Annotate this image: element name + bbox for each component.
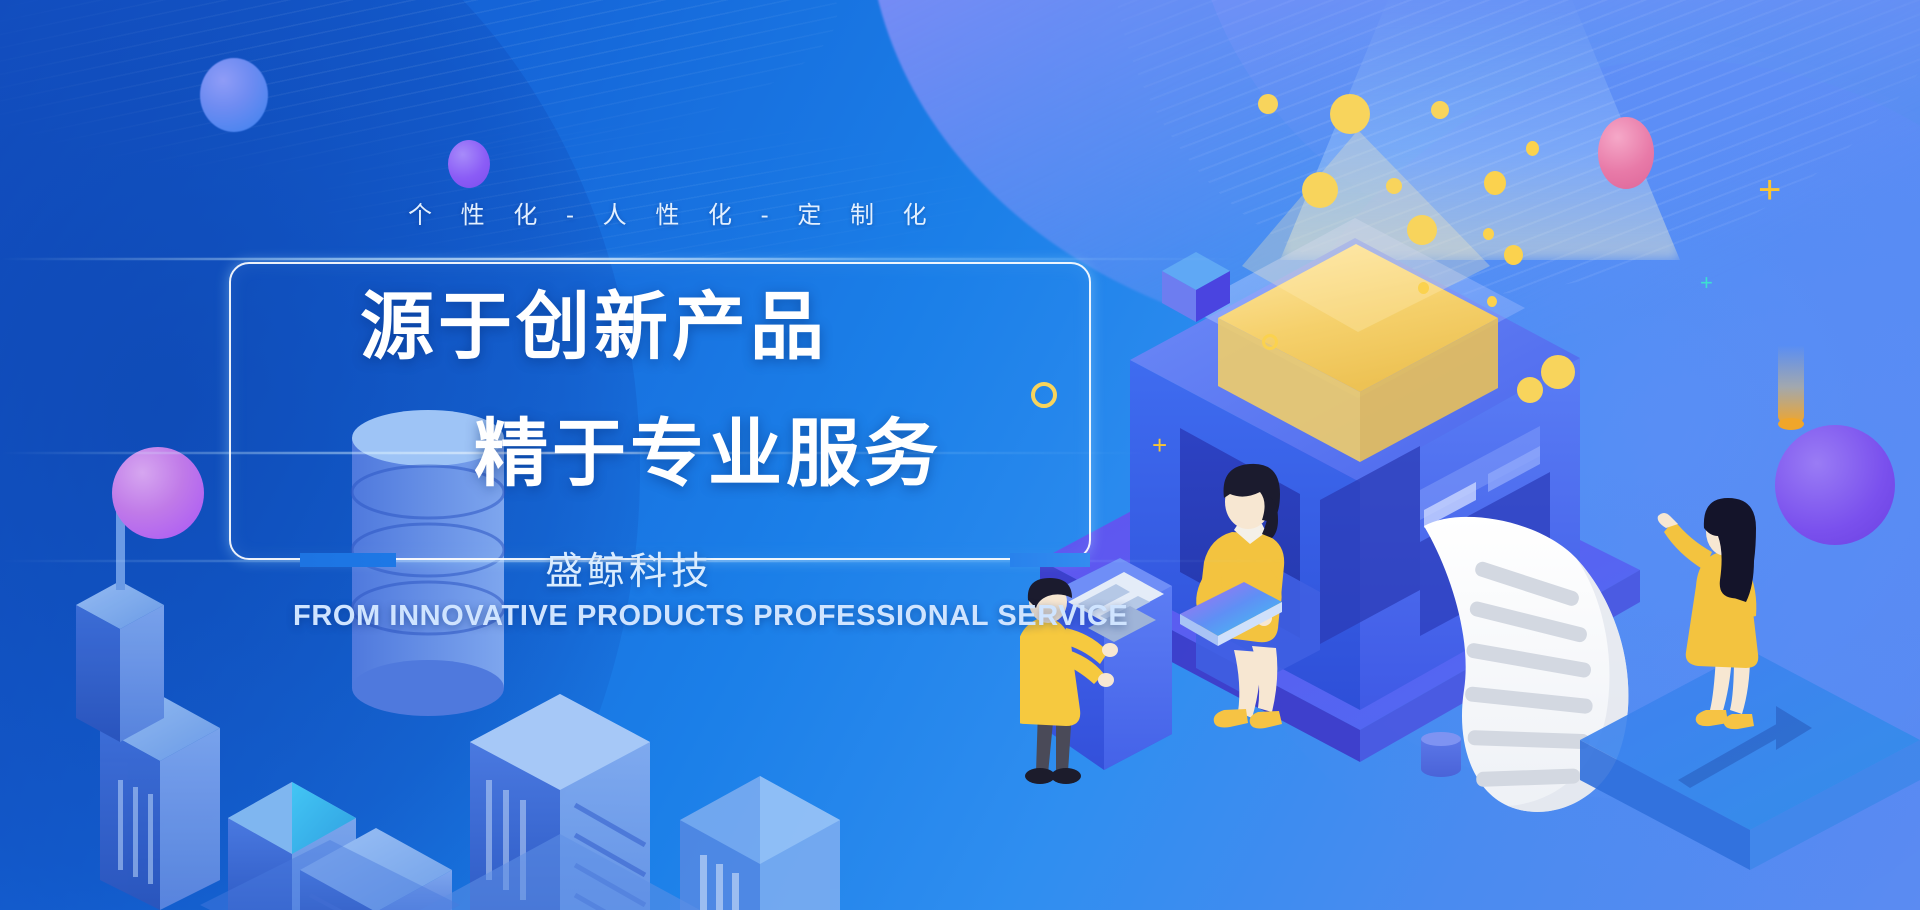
violet-sphere-right xyxy=(1775,425,1895,545)
teal-plus-icon: + xyxy=(1700,272,1713,294)
frame-gap-bottom-right xyxy=(1010,553,1090,567)
yellow-plus-icon-right: + xyxy=(1758,170,1781,210)
text-content-block: 个 性 化 - 人 性 化 - 定 制 化 源于创新产品 精于专业服务 盛鲸科技… xyxy=(0,0,1160,910)
hero-banner: + + + 个 性 化 - 人 性 化 - 定 制 化 源于创新产品 精于专业服… xyxy=(0,0,1920,910)
brand-name: 盛鲸科技 xyxy=(545,540,713,595)
english-tagline: FROM INNOVATIVE PRODUCTS PROFESSIONAL SE… xyxy=(293,600,1128,633)
yellow-dot xyxy=(1504,245,1523,265)
pink-sphere-top-right xyxy=(1598,117,1654,189)
yellow-ring-icon xyxy=(1262,334,1278,350)
yellow-dot xyxy=(1526,141,1539,156)
orange-cylinder-icon xyxy=(1778,345,1804,425)
eyebrow-text: 个 性 化 - 人 性 化 - 定 制 化 xyxy=(408,195,938,230)
yellow-dot xyxy=(1487,296,1497,307)
blue-cylinder-icon xyxy=(1421,739,1461,777)
frame-gap-bottom-left xyxy=(300,553,396,567)
right-lower-platform xyxy=(1580,650,1920,870)
headline-line-2: 精于专业服务 xyxy=(474,417,942,491)
headline-line-1: 源于创新产品 xyxy=(360,290,828,364)
yellow-dot xyxy=(1483,228,1494,240)
yellow-dot xyxy=(1484,171,1506,195)
yellow-dot xyxy=(1418,282,1429,294)
isometric-cube-icon xyxy=(1160,250,1232,324)
